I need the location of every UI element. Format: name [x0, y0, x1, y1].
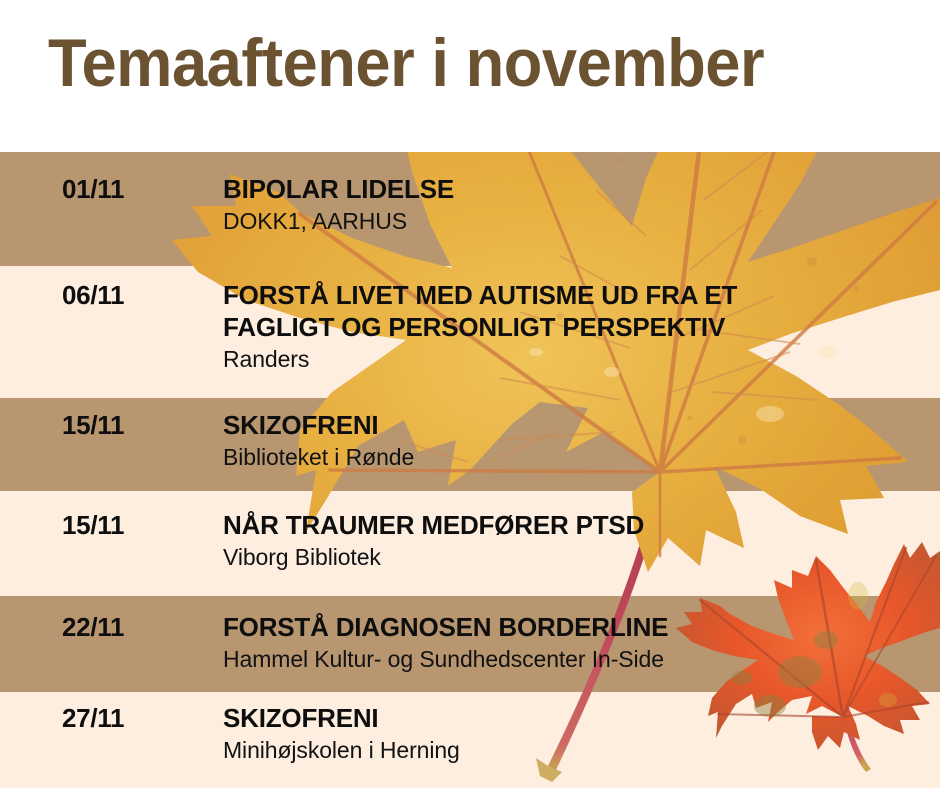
band-4	[0, 491, 940, 596]
title-bar: Temaaftener i november	[0, 0, 940, 152]
band-stack	[0, 152, 940, 788]
band-2	[0, 266, 940, 398]
poster: Temaaftener i november 01/11 BIPOLAR LID…	[0, 0, 940, 788]
band-3	[0, 398, 940, 491]
page-title: Temaaftener i november	[48, 28, 764, 99]
band-5	[0, 596, 940, 692]
band-1	[0, 152, 940, 266]
band-6	[0, 692, 940, 788]
